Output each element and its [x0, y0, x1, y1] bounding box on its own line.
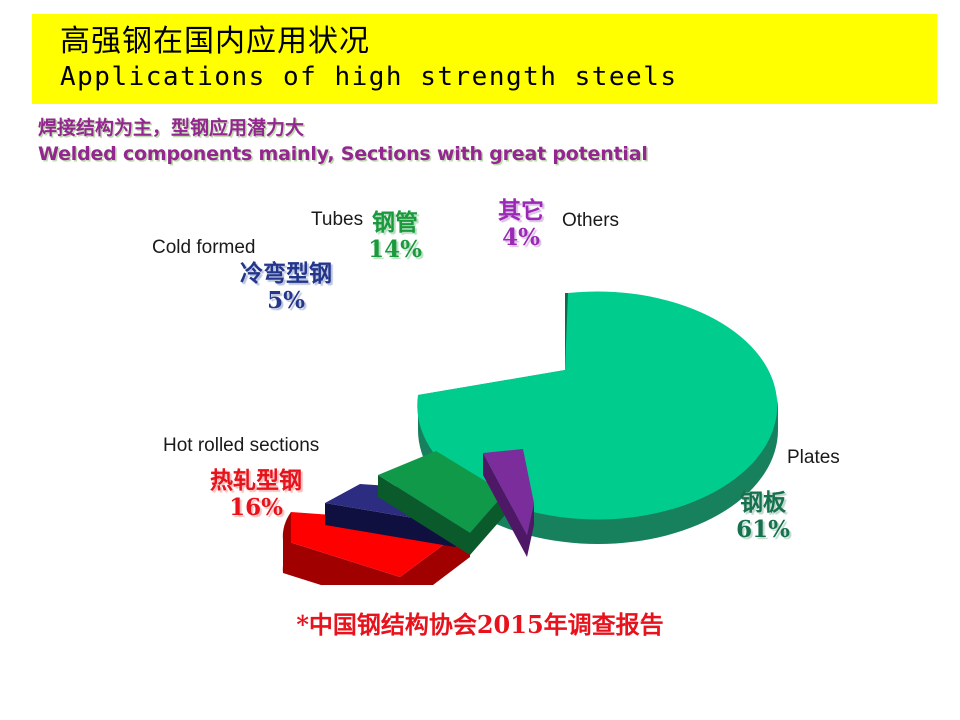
- subtitle-chinese: 焊接结构为主，型钢应用潜力大: [38, 116, 798, 141]
- label-hot-rolled-chinese: 热轧型钢 16%: [191, 468, 321, 521]
- label-hot-rolled-name: 热轧型钢: [191, 468, 321, 495]
- label-cold-formed-english: Cold formed: [152, 237, 256, 259]
- label-others-name: 其它: [489, 198, 553, 225]
- source-footnote: *中国钢结构协会2015年调查报告: [0, 605, 960, 640]
- label-plates-name: 钢板: [718, 490, 808, 517]
- label-plates-chinese: 钢板 61%: [718, 490, 808, 543]
- label-others-english: Others: [562, 210, 619, 232]
- label-tubes-english: Tubes: [311, 209, 363, 231]
- subtitle-english: Welded components mainly, Sections with …: [38, 141, 798, 167]
- label-tubes-percent: 14%: [360, 237, 430, 264]
- label-cold-formed-name: 冷弯型钢: [226, 261, 346, 288]
- label-plates-english: Plates: [787, 447, 840, 469]
- label-hot-rolled-english: Hot rolled sections: [163, 435, 319, 457]
- label-hot-rolled-percent: 16%: [191, 495, 321, 522]
- label-others-percent: 4%: [489, 225, 553, 252]
- label-cold-formed-percent: 5%: [226, 288, 346, 315]
- label-others-chinese: 其它 4%: [489, 198, 553, 251]
- title-banner: 高强钢在国内应用状况 Applications of high strength…: [32, 14, 937, 104]
- page-title-chinese: 高强钢在国内应用状况: [60, 23, 937, 60]
- pie-chart-graphic: [0, 185, 960, 585]
- label-plates-percent: 61%: [718, 517, 808, 544]
- subtitle-block: 焊接结构为主，型钢应用潜力大 Welded components mainly,…: [38, 116, 798, 167]
- label-cold-formed-chinese: 冷弯型钢 5%: [226, 261, 346, 314]
- page-title-english: Applications of high strength steels: [60, 60, 937, 94]
- label-tubes-name: 钢管: [360, 210, 430, 237]
- pie-chart: Cold formed Tubes Others Hot rolled sect…: [0, 185, 960, 585]
- label-tubes-chinese: 钢管 14%: [360, 210, 430, 263]
